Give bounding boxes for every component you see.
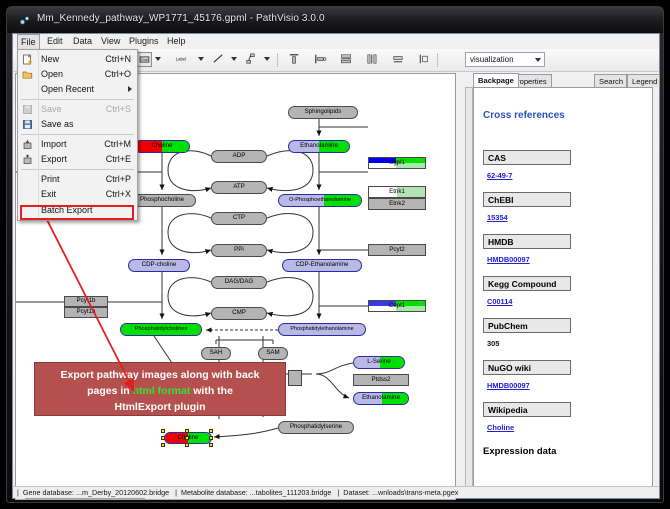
new-document-icon — [22, 54, 33, 65]
xref-value-wikipedia[interactable]: Choline — [487, 423, 514, 432]
annotation-banner: Export pathway images along with back pa… — [34, 362, 286, 416]
menu-item-open-accel: Ctrl+O — [105, 67, 131, 82]
xref-header-cas: CAS — [483, 150, 571, 165]
xref-header-pubchem: PubChem — [483, 318, 571, 333]
node-choline-top[interactable]: Choline — [134, 140, 190, 153]
banner-line-1: Export pathway images along with back — [35, 367, 285, 383]
selection-handle-sw[interactable] — [161, 443, 165, 447]
import-icon — [22, 139, 33, 150]
node-ppi[interactable]: PPi — [211, 244, 267, 257]
datanode-dropdown-icon[interactable] — [155, 57, 161, 61]
backpage-panel: Cross references CAS 62-49-7 ChEBI 15354… — [473, 87, 653, 490]
xref-header-hmdb: HMDB — [483, 234, 571, 249]
xref-value-cas[interactable]: 62-49-7 — [487, 171, 512, 180]
selection-handle-s[interactable] — [185, 443, 189, 447]
banner-html-format-highlight: html format — [133, 385, 191, 397]
submenu-arrow-icon — [128, 86, 132, 92]
statusbar-metabolite-database: Metabolite database: ...tabolites_111203… — [181, 488, 331, 497]
open-folder-icon — [22, 69, 33, 80]
selection-handle-se[interactable] — [209, 443, 213, 447]
menu-data[interactable]: Data — [69, 35, 96, 48]
panel-splitter[interactable] — [465, 87, 473, 490]
node-etnk1[interactable]: Etnk1 — [368, 186, 426, 198]
menu-item-exit-label: Exit — [41, 189, 56, 199]
selection-handle-ne[interactable] — [209, 429, 213, 433]
menu-item-new-accel: Ctrl+N — [105, 52, 131, 67]
menu-item-open-recent[interactable]: Open Recent — [18, 82, 137, 97]
line-tool-button[interactable] — [211, 52, 226, 67]
node-sam[interactable]: SAM — [258, 347, 288, 360]
window-titlebar[interactable]: Mm_Kennedy_pathway_WP1771_45176.gpml - P… — [7, 7, 663, 33]
label-dropdown-icon[interactable] — [198, 57, 204, 61]
selection-handle-n[interactable] — [185, 429, 189, 433]
menu-view[interactable]: View — [97, 35, 124, 48]
node-l-serine[interactable]: L-Serine — [353, 356, 405, 369]
chevron-down-icon-2 — [535, 58, 541, 62]
xref-header-chebi: ChEBI — [483, 192, 571, 207]
node-sah[interactable]: SAH — [201, 347, 231, 360]
banner-line-2-post: with the — [190, 385, 233, 397]
node-etnk2[interactable]: Etnk2 — [368, 198, 426, 210]
banner-line-2-pre: pages in — [87, 385, 133, 397]
statusbar-sep-2: | — [333, 488, 343, 497]
save-disk-icon — [22, 104, 33, 115]
node-ethanolamine-bottom[interactable]: Ethanolamine — [353, 392, 409, 405]
menu-item-export[interactable]: Export Ctrl+E — [18, 152, 137, 167]
xref-value-kegg[interactable]: C00114 — [487, 297, 512, 306]
screenshot-root: Mm_Kennedy_pathway_WP1771_45176.gpml - P… — [0, 0, 670, 509]
xref-header-wikipedia: Wikipedia — [483, 402, 571, 417]
same-width-button[interactable] — [391, 52, 406, 67]
pathvisio-app-icon — [19, 15, 30, 26]
node-sgpl1[interactable]: Sgpl1 — [368, 157, 426, 169]
node-phosphatidylcholines[interactable]: Phosphatidylcholines — [120, 323, 202, 336]
menu-item-print-accel: Ctrl+P — [106, 172, 131, 187]
menu-item-batch-export-label: Batch Export — [41, 205, 93, 215]
menu-item-new-label: New — [41, 54, 59, 64]
menu-item-exit-accel: Ctrl+X — [106, 187, 131, 202]
xref-value-pubchem: 305 — [487, 339, 499, 348]
menu-item-save-accel: Ctrl+S — [106, 102, 131, 117]
node-phosphocholine[interactable]: Phosphocholine — [128, 194, 196, 207]
align-stack-button[interactable] — [339, 52, 354, 67]
statusbar: |Gene database: ...m_Derby_20120602.brid… — [13, 486, 659, 498]
menu-item-open-label: Open — [41, 69, 63, 79]
xref-value-hmdb[interactable]: HMDB00097 — [487, 255, 530, 264]
node-phosphatidylethanolamine[interactable]: Phosphatidylethanolamine — [278, 323, 366, 336]
save-as-disk-icon — [22, 119, 33, 130]
xref-header-nugo: NuGO wiki — [483, 360, 571, 375]
menu-item-open-recent-label: Open Recent — [41, 84, 94, 94]
node-ctp[interactable]: CTP — [211, 212, 267, 225]
menu-item-exit[interactable]: Exit Ctrl+X — [18, 187, 137, 202]
export-icon — [22, 154, 33, 165]
xref-value-chebi[interactable]: 15354 — [487, 213, 508, 222]
node-pcyt2[interactable]: Pcyt2 — [368, 244, 426, 256]
menu-help[interactable]: Help — [163, 35, 190, 48]
node-cdp-choline[interactable]: CDP-choline — [128, 259, 190, 272]
tab-search[interactable]: Search — [594, 74, 627, 87]
node-pcyt1b[interactable]: Pcyt1b — [64, 296, 108, 307]
xref-value-nugo[interactable]: HMDB00097 — [487, 381, 530, 390]
statusbar-sep-1: | — [171, 488, 181, 497]
statusbar-sep-0: | — [13, 488, 23, 497]
side-panel: Objects Properties Backpage Search Legen… — [465, 73, 659, 491]
selection-handle-e[interactable] — [209, 436, 213, 440]
xref-header-kegg: Kegg Compound — [483, 276, 571, 291]
menu-file[interactable]: File — [17, 34, 40, 49]
node-dag[interactable]: DAG/DAG — [211, 276, 267, 289]
node-sphingolipids[interactable]: Sphingolipids — [288, 106, 358, 119]
node-cept1[interactable]: Cept1 — [368, 300, 426, 312]
interaction-tool-button[interactable] — [244, 52, 259, 67]
menu-item-save-as[interactable]: Save as — [18, 117, 137, 132]
menu-item-new[interactable]: New Ctrl+N — [18, 52, 137, 67]
statusbar-dataset: Dataset: ...wnloads\trans-meta.pgex — [343, 488, 458, 497]
menu-item-save-as-label: Save as — [41, 119, 74, 129]
menu-item-import[interactable]: Import Ctrl+M — [18, 137, 137, 152]
menu-plugins[interactable]: Plugins — [125, 35, 163, 48]
selection-handle-nw[interactable] — [161, 429, 165, 433]
node-ptdss2[interactable]: Ptdss2 — [353, 374, 409, 386]
app-client-area: File Edit Data View Plugins Help Zoom: 1… — [12, 33, 660, 499]
selection-handle-w[interactable] — [161, 436, 165, 440]
menu-item-save: Save Ctrl+S — [18, 102, 137, 117]
visualization-value: visualization — [470, 55, 514, 64]
node-atp[interactable]: ATP — [211, 181, 267, 194]
line-dropdown-icon[interactable] — [231, 57, 237, 61]
panel-tabstrip: Objects Properties Backpage Search Legen… — [473, 73, 659, 87]
banner-line-3: HtmlExport plugin — [35, 399, 285, 415]
toolbar-separator-2 — [277, 53, 278, 67]
banner-line-2: pages in html format with the — [35, 383, 285, 399]
menu-item-import-label: Import — [41, 139, 67, 149]
menu-item-print-label: Print — [41, 174, 60, 184]
node-ethanolamine-top[interactable]: Ethanolamine — [288, 140, 350, 153]
file-menu-dropdown: New Ctrl+N Open Ctrl+O Open Recent Save — [17, 49, 138, 221]
align-top-button[interactable] — [287, 52, 302, 67]
same-height-button[interactable] — [417, 52, 432, 67]
label-tool-button[interactable]: Label — [168, 52, 194, 67]
toolbar-separator-3 — [437, 53, 438, 67]
node-pcyt1a[interactable]: Pcyt1a — [64, 307, 108, 318]
datanode-tool-button[interactable]: Gne — [137, 52, 152, 67]
svg-text:Label: Label — [176, 57, 187, 62]
selection-handle-c[interactable] — [185, 436, 189, 440]
menu-item-save-label: Save — [41, 104, 62, 114]
cross-references-heading: Cross references — [483, 110, 565, 121]
node-o-phosphoethanolamine[interactable]: O-Phosphoethanolamine — [278, 194, 362, 207]
menu-item-import-accel: Ctrl+M — [104, 137, 131, 152]
tab-backpage[interactable]: Backpage — [473, 73, 519, 87]
node-connector-stub[interactable] — [288, 370, 302, 386]
menu-item-export-accel: Ctrl+E — [106, 152, 131, 167]
node-adp[interactable]: ADP — [211, 150, 267, 163]
node-cmp[interactable]: CMP — [211, 307, 267, 320]
distribute-button[interactable] — [365, 52, 380, 67]
svg-text:Gne: Gne — [141, 58, 148, 62]
menubar: File Edit Data View Plugins Help — [13, 34, 659, 50]
menu-edit[interactable]: Edit — [43, 35, 67, 48]
menu-item-batch-export[interactable]: Batch Export — [18, 203, 137, 218]
node-phosphatidylserine[interactable]: Phosphatidylserine — [278, 421, 354, 434]
statusbar-gene-database: Gene database: ...m_Derby_20120602.bridg… — [23, 488, 169, 497]
menu-item-print[interactable]: Print Ctrl+P — [18, 172, 137, 187]
tab-legend[interactable]: Legend — [627, 74, 660, 87]
align-left-button[interactable] — [313, 52, 328, 67]
node-cdp-ethanolamine[interactable]: CDP-Ethanolamine — [282, 259, 362, 272]
interaction-dropdown-icon[interactable] — [264, 57, 270, 61]
window-title: Mm_Kennedy_pathway_WP1771_45176.gpml - P… — [37, 13, 325, 24]
menu-item-open[interactable]: Open Ctrl+O — [18, 67, 137, 82]
visualization-combo[interactable]: visualization — [465, 52, 545, 67]
application-window: Mm_Kennedy_pathway_WP1771_45176.gpml - P… — [6, 6, 664, 503]
expression-data-heading: Expression data — [483, 446, 556, 457]
menu-item-export-label: Export — [41, 154, 67, 164]
